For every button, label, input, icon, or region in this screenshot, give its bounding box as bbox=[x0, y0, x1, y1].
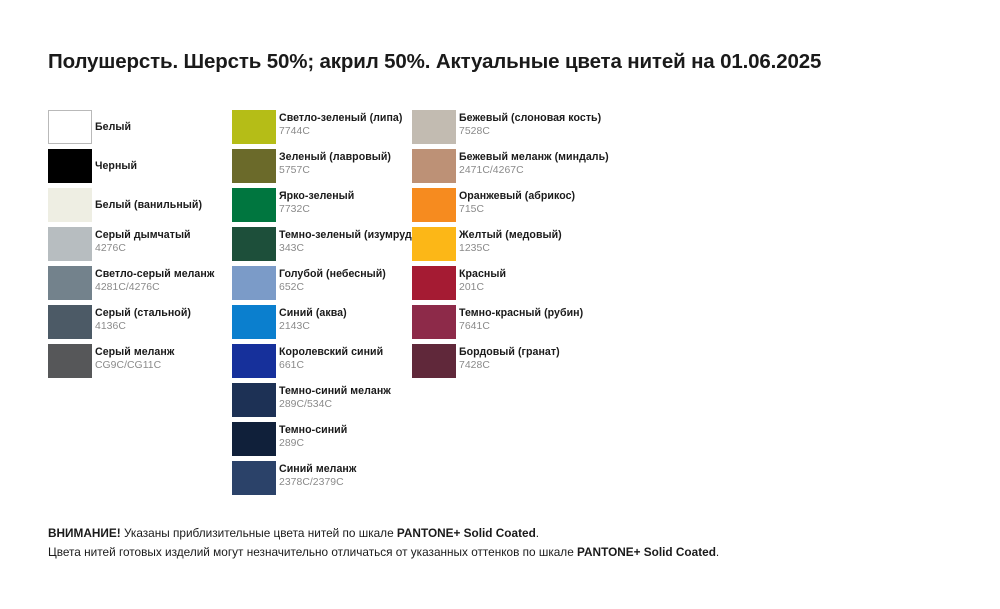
swatch-name: Светло-зеленый (липа) bbox=[279, 111, 402, 125]
swatch-pantone-code: 2378C/2379C bbox=[279, 476, 356, 490]
swatch-pantone-code: CG9C/CG11C bbox=[95, 359, 174, 373]
swatch-row[interactable]: Темно-зеленый (изумруд)343C bbox=[232, 227, 412, 266]
swatch-name: Королевский синий bbox=[279, 345, 383, 359]
swatch-text: Светло-серый меланж4281C/4276C bbox=[95, 266, 214, 301]
swatch-text: Королевский синий661C bbox=[279, 344, 383, 379]
color-swatch[interactable] bbox=[232, 305, 276, 339]
swatch-row[interactable]: Оранжевый (абрикос)715C bbox=[412, 188, 662, 227]
color-swatch[interactable] bbox=[412, 344, 456, 378]
color-swatch[interactable] bbox=[232, 461, 276, 495]
swatch-name: Голубой (небесный) bbox=[279, 267, 386, 281]
color-swatch[interactable] bbox=[48, 305, 92, 339]
swatch-text: Темно-зеленый (изумруд)343C bbox=[279, 227, 415, 262]
color-swatch[interactable] bbox=[412, 227, 456, 261]
swatch-pantone-code: 1235C bbox=[459, 242, 562, 256]
color-swatch[interactable] bbox=[48, 188, 92, 222]
swatch-name: Темно-синий bbox=[279, 423, 347, 437]
color-swatch[interactable] bbox=[232, 149, 276, 183]
footer-line-1-text: Указаны приблизительные цвета нитей по ш… bbox=[121, 526, 397, 540]
swatch-pantone-code: 4276C bbox=[95, 242, 191, 256]
color-chart-sheet: Полушерсть. Шерсть 50%; акрил 50%. Актуа… bbox=[0, 0, 1000, 609]
swatch-name: Синий (аква) bbox=[279, 306, 347, 320]
footer-line-2: Цвета нитей готовых изделий могут незнач… bbox=[48, 543, 968, 562]
swatch-name: Белый bbox=[95, 120, 131, 134]
swatch-pantone-code: 7428C bbox=[459, 359, 560, 373]
color-swatch[interactable] bbox=[232, 383, 276, 417]
swatch-text: Серый меланжCG9C/CG11C bbox=[95, 344, 174, 379]
swatch-row[interactable]: Синий (аква)2143C bbox=[232, 305, 412, 344]
swatch-text: Синий (аква)2143C bbox=[279, 305, 347, 340]
footer-attention-label: ВНИМАНИЕ! bbox=[48, 526, 121, 540]
swatch-text: Темно-синий меланж289C/534C bbox=[279, 383, 391, 418]
swatch-row[interactable]: Королевский синий661C bbox=[232, 344, 412, 383]
swatch-text: Серый (стальной)4136C bbox=[95, 305, 191, 340]
footer-line-1: ВНИМАНИЕ! Указаны приблизительные цвета … bbox=[48, 524, 968, 543]
swatch-text: Белый bbox=[95, 110, 131, 144]
swatch-text: Ярко-зеленый7732C bbox=[279, 188, 354, 223]
swatch-pantone-code: 2471C/4267C bbox=[459, 164, 609, 178]
color-swatch[interactable] bbox=[412, 305, 456, 339]
footer-brand-1: PANTONE+ Solid Coated bbox=[397, 526, 536, 540]
swatch-pantone-code: 7641C bbox=[459, 320, 583, 334]
footer-line-1-tail: . bbox=[536, 526, 539, 540]
swatch-row[interactable]: Темно-синий289C bbox=[232, 422, 412, 461]
swatch-pantone-code: 4281C/4276C bbox=[95, 281, 214, 295]
swatch-row[interactable]: Зеленый (лавровый)5757C bbox=[232, 149, 412, 188]
swatch-pantone-code: 7732C bbox=[279, 203, 354, 217]
swatch-name: Ярко-зеленый bbox=[279, 189, 354, 203]
color-swatch[interactable] bbox=[48, 149, 92, 183]
swatch-name: Темно-синий меланж bbox=[279, 384, 391, 398]
swatch-name: Темно-зеленый (изумруд) bbox=[279, 228, 415, 242]
footer-notes: ВНИМАНИЕ! Указаны приблизительные цвета … bbox=[48, 524, 968, 562]
swatch-pantone-code: 289C bbox=[279, 437, 347, 451]
swatch-text: Красный201C bbox=[459, 266, 506, 301]
swatch-name: Черный bbox=[95, 159, 137, 173]
color-swatch[interactable] bbox=[412, 266, 456, 300]
swatch-row[interactable]: Серый меланжCG9C/CG11C bbox=[48, 344, 228, 383]
color-swatch[interactable] bbox=[412, 149, 456, 183]
color-swatch[interactable] bbox=[48, 344, 92, 378]
swatch-text: Синий меланж2378C/2379C bbox=[279, 461, 356, 496]
swatch-row[interactable]: Желтый (медовый)1235C bbox=[412, 227, 662, 266]
color-swatch[interactable] bbox=[412, 188, 456, 222]
swatch-name: Бежевый (слоновая кость) bbox=[459, 111, 601, 125]
swatch-name: Красный bbox=[459, 267, 506, 281]
swatch-name: Темно-красный (рубин) bbox=[459, 306, 583, 320]
color-swatch[interactable] bbox=[412, 110, 456, 144]
swatch-pantone-code: 4136C bbox=[95, 320, 191, 334]
color-swatch[interactable] bbox=[232, 110, 276, 144]
swatch-row[interactable]: Ярко-зеленый7732C bbox=[232, 188, 412, 227]
color-swatch[interactable] bbox=[232, 344, 276, 378]
swatch-text: Оранжевый (абрикос)715C bbox=[459, 188, 575, 223]
swatch-text: Светло-зеленый (липа)7744C bbox=[279, 110, 402, 145]
footer-line-2-tail: . bbox=[716, 545, 719, 559]
swatch-row[interactable]: Бежевый (слоновая кость)7528C bbox=[412, 110, 662, 149]
swatch-text: Белый (ванильный) bbox=[95, 188, 202, 222]
swatch-row[interactable]: Белый (ванильный) bbox=[48, 188, 228, 227]
swatch-name: Желтый (медовый) bbox=[459, 228, 562, 242]
color-swatch[interactable] bbox=[232, 227, 276, 261]
swatch-pantone-code: 2143C bbox=[279, 320, 347, 334]
swatch-text: Бежевый меланж (миндаль)2471C/4267C bbox=[459, 149, 609, 184]
swatch-name: Серый дымчатый bbox=[95, 228, 191, 242]
color-swatch[interactable] bbox=[232, 188, 276, 222]
swatch-text: Бордовый (гранат)7428C bbox=[459, 344, 560, 379]
swatch-text: Зеленый (лавровый)5757C bbox=[279, 149, 391, 184]
color-swatch[interactable] bbox=[232, 422, 276, 456]
swatch-pantone-code: 343C bbox=[279, 242, 415, 256]
swatch-pantone-code: 289C/534C bbox=[279, 398, 391, 412]
swatch-text: Темно-синий289C bbox=[279, 422, 347, 457]
swatch-name: Белый (ванильный) bbox=[95, 198, 202, 212]
swatch-column-neutrals: БелыйЧерныйБелый (ванильный)Серый дымчат… bbox=[48, 110, 228, 383]
footer-line-2-text: Цвета нитей готовых изделий могут незнач… bbox=[48, 545, 577, 559]
swatch-name: Бежевый меланж (миндаль) bbox=[459, 150, 609, 164]
color-swatch[interactable] bbox=[48, 110, 92, 144]
swatch-name: Серый меланж bbox=[95, 345, 174, 359]
swatch-text: Голубой (небесный)652C bbox=[279, 266, 386, 301]
swatch-row[interactable]: Синий меланж2378C/2379C bbox=[232, 461, 412, 500]
swatch-row[interactable]: Белый bbox=[48, 110, 228, 149]
swatch-pantone-code: 201C bbox=[459, 281, 506, 295]
swatch-pantone-code: 7744C bbox=[279, 125, 402, 139]
swatch-row[interactable]: Черный bbox=[48, 149, 228, 188]
swatch-name: Бордовый (гранат) bbox=[459, 345, 560, 359]
swatch-text: Темно-красный (рубин)7641C bbox=[459, 305, 583, 340]
footer-brand-2: PANTONE+ Solid Coated bbox=[577, 545, 716, 559]
swatch-pantone-code: 715C bbox=[459, 203, 575, 217]
swatch-row[interactable]: Светло-зеленый (липа)7744C bbox=[232, 110, 412, 149]
swatch-row[interactable]: Светло-серый меланж4281C/4276C bbox=[48, 266, 228, 305]
swatch-row[interactable]: Темно-синий меланж289C/534C bbox=[232, 383, 412, 422]
swatch-pantone-code: 5757C bbox=[279, 164, 391, 178]
swatch-row[interactable]: Бордовый (гранат)7428C bbox=[412, 344, 662, 383]
swatch-text: Черный bbox=[95, 149, 137, 183]
swatch-pantone-code: 7528C bbox=[459, 125, 601, 139]
swatch-row[interactable]: Темно-красный (рубин)7641C bbox=[412, 305, 662, 344]
swatch-name: Оранжевый (абрикос) bbox=[459, 189, 575, 203]
color-swatch[interactable] bbox=[48, 266, 92, 300]
swatch-pantone-code: 661C bbox=[279, 359, 383, 373]
color-swatch[interactable] bbox=[48, 227, 92, 261]
swatch-column-warm: Бежевый (слоновая кость)7528CБежевый мел… bbox=[412, 110, 662, 383]
color-swatch[interactable] bbox=[232, 266, 276, 300]
swatch-row[interactable]: Бежевый меланж (миндаль)2471C/4267C bbox=[412, 149, 662, 188]
page-title: Полушерсть. Шерсть 50%; акрил 50%. Актуа… bbox=[48, 50, 968, 74]
swatch-row[interactable]: Серый дымчатый4276C bbox=[48, 227, 228, 266]
swatch-text: Серый дымчатый4276C bbox=[95, 227, 191, 262]
swatch-row[interactable]: Голубой (небесный)652C bbox=[232, 266, 412, 305]
swatch-column-greens-blues: Светло-зеленый (липа)7744CЗеленый (лавро… bbox=[232, 110, 412, 500]
swatch-pantone-code: 652C bbox=[279, 281, 386, 295]
swatch-row[interactable]: Красный201C bbox=[412, 266, 662, 305]
swatch-name: Синий меланж bbox=[279, 462, 356, 476]
swatch-text: Желтый (медовый)1235C bbox=[459, 227, 562, 262]
swatch-row[interactable]: Серый (стальной)4136C bbox=[48, 305, 228, 344]
swatch-text: Бежевый (слоновая кость)7528C bbox=[459, 110, 601, 145]
swatch-name: Зеленый (лавровый) bbox=[279, 150, 391, 164]
swatch-name: Светло-серый меланж bbox=[95, 267, 214, 281]
swatch-name: Серый (стальной) bbox=[95, 306, 191, 320]
